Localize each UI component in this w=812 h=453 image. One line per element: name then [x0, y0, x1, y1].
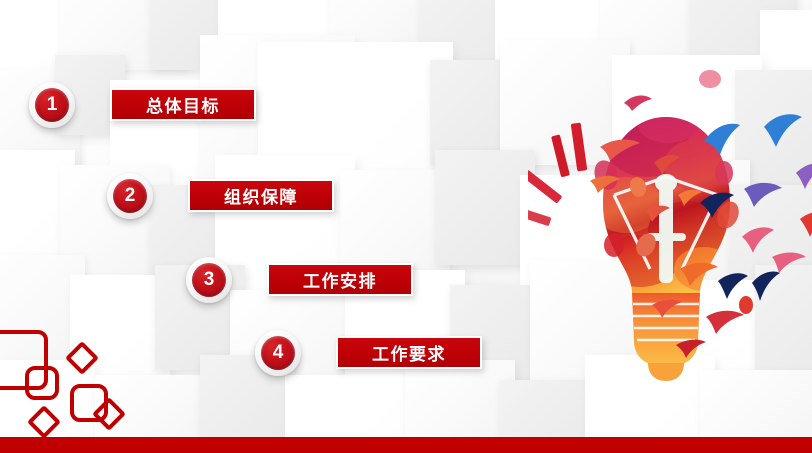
- corner-decoration: [0, 322, 150, 437]
- agenda-label-chip[interactable]: 组织保障: [188, 179, 334, 212]
- lightbulb-illustration: [528, 55, 812, 385]
- step-number-badge: 1: [29, 82, 75, 128]
- step-number-label: 4: [261, 336, 295, 370]
- agenda-row[interactable]: 1 总体目标: [29, 82, 269, 140]
- bottom-accent-bar: [0, 437, 812, 453]
- agenda-row[interactable]: 4 工作要求: [255, 330, 495, 388]
- agenda-label-chip[interactable]: 工作安排: [267, 263, 413, 296]
- agenda-row[interactable]: 2 组织保障: [107, 173, 347, 231]
- agenda-label-chip[interactable]: 总体目标: [110, 88, 256, 121]
- step-number-label: 2: [113, 179, 147, 213]
- agenda-row[interactable]: 3 工作安排: [186, 257, 426, 315]
- deco-diamond-upper: [65, 341, 99, 375]
- agenda-label-text: 组织保障: [190, 181, 332, 210]
- agenda-label-text: 总体目标: [112, 90, 254, 119]
- idea-rays: [528, 123, 587, 227]
- agenda-label-text: 工作要求: [338, 338, 480, 367]
- agenda-label-text: 工作安排: [269, 265, 411, 294]
- slide-canvas: 1 总体目标 2 组织保障 3 工作安排 4 工作要求: [0, 0, 812, 453]
- step-number-label: 3: [192, 263, 226, 297]
- step-number-label: 1: [35, 88, 69, 122]
- step-number-badge: 4: [255, 330, 301, 376]
- step-number-badge: 2: [107, 173, 153, 219]
- step-number-badge: 3: [186, 257, 232, 303]
- deco-rounded-square-small: [25, 366, 59, 400]
- agenda-label-chip[interactable]: 工作要求: [336, 336, 482, 369]
- deco-diamond-lower: [27, 405, 61, 439]
